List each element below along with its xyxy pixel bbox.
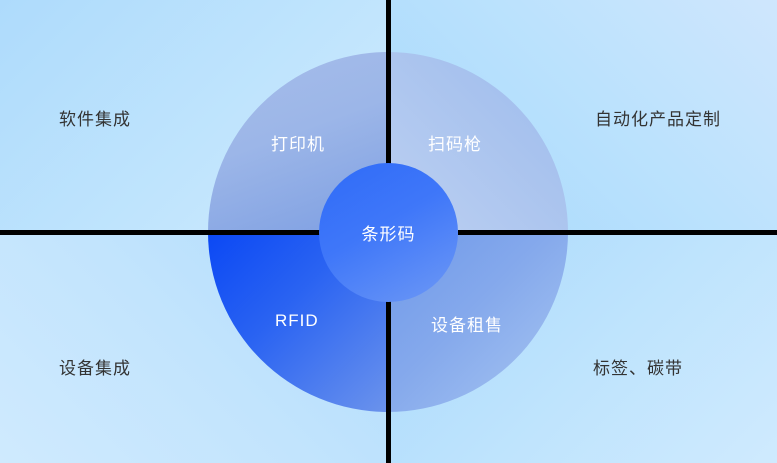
segment-label-rental: 设备租售	[431, 311, 503, 336]
axis-line-horizontal-left	[0, 230, 320, 235]
segment-label-printer: 打印机	[271, 130, 325, 155]
axis-line-vertical-bottom	[386, 301, 391, 463]
outer-label-software: 软件集成	[59, 105, 131, 130]
axis-line-horizontal-right	[458, 230, 777, 235]
axis-line-vertical-top	[386, 0, 391, 164]
outer-label-consumable: 标签、碳带	[593, 354, 683, 379]
outer-label-automation: 自动化产品定制	[595, 105, 721, 130]
core-circle[interactable]: 条形码	[319, 163, 458, 302]
diagram-canvas: 条形码 打印机 扫码枪 RFID 设备租售 软件集成 自动化产品定制 设备集成 …	[0, 0, 777, 463]
segment-label-scanner: 扫码枪	[428, 130, 482, 155]
segment-label-rfid: RFID	[275, 311, 319, 331]
core-circle-label: 条形码	[362, 220, 416, 245]
outer-label-equipment: 设备集成	[59, 354, 131, 379]
